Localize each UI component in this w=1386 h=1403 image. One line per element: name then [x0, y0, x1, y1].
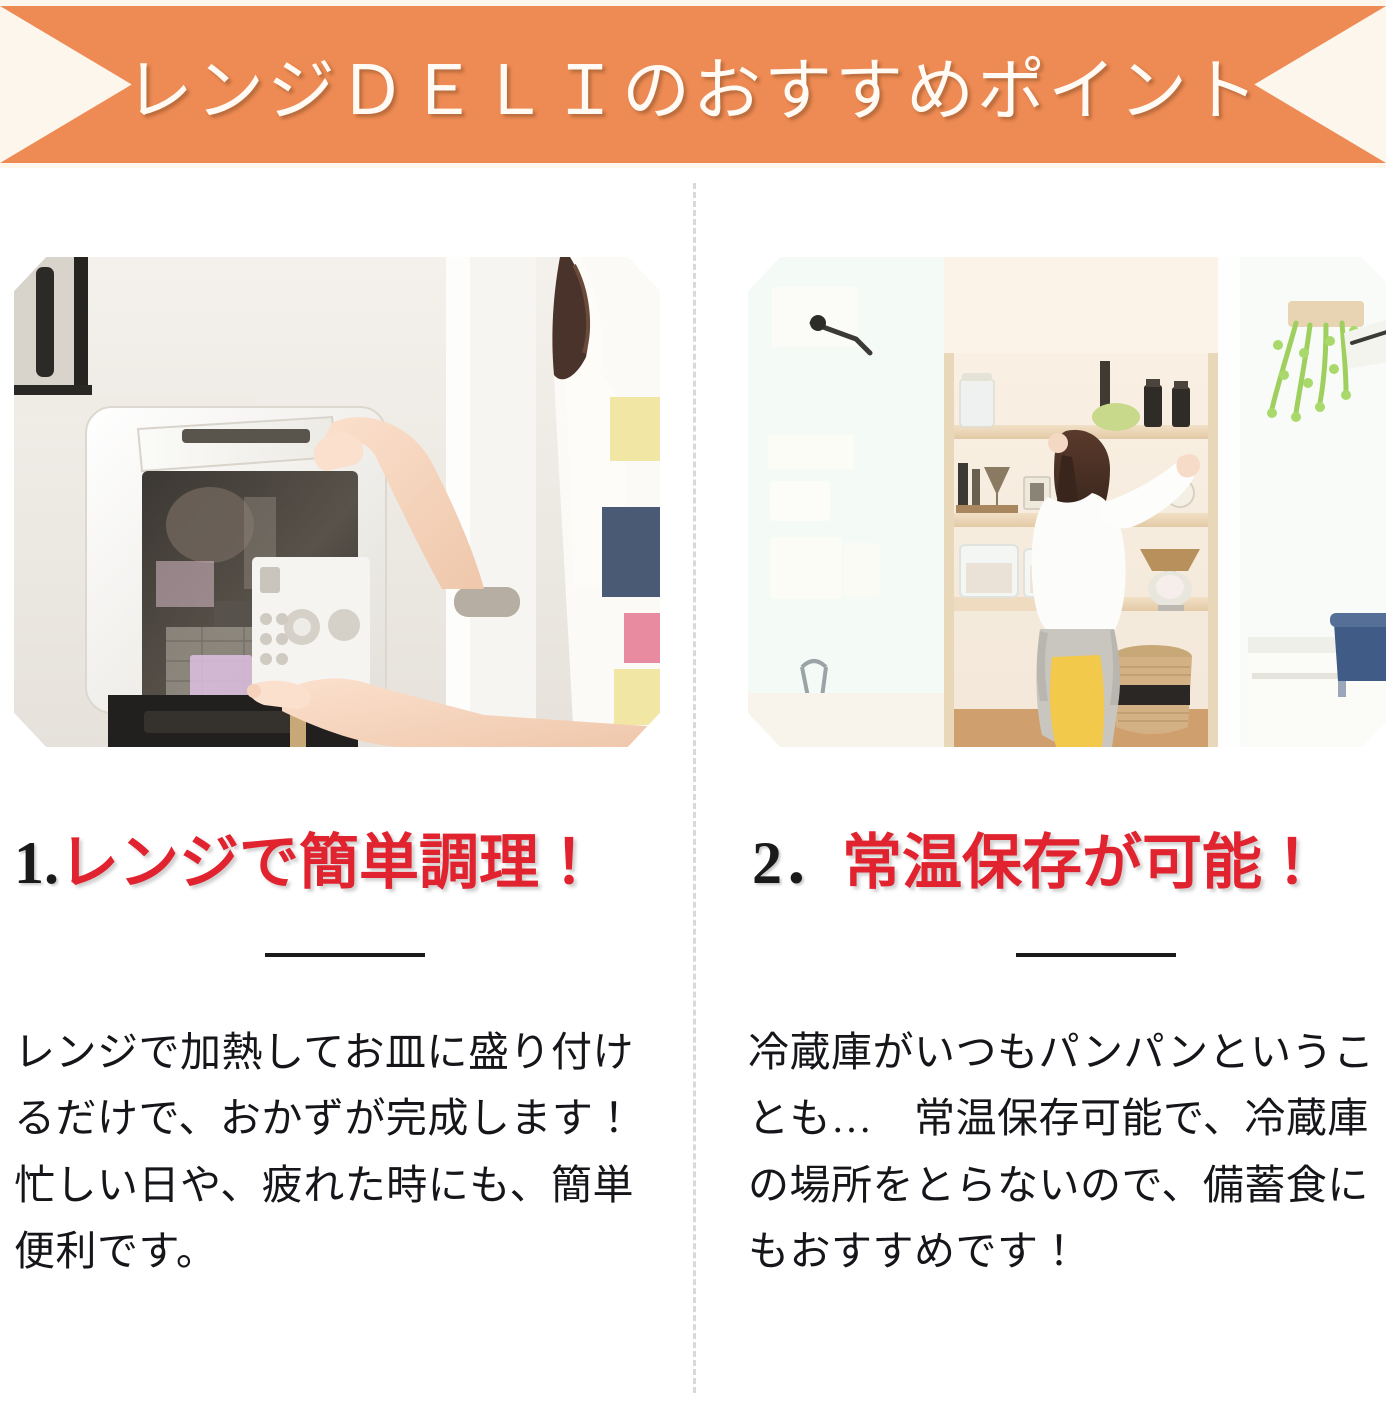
column-divider [693, 183, 696, 1393]
point-1-divider-rule [265, 953, 425, 957]
point-2-headline-text: 常温保存が可能！ [842, 830, 1322, 896]
point-2-photo [748, 257, 1386, 747]
microwave-photo-illustration [14, 257, 660, 747]
point-1-photo [14, 257, 660, 747]
page-banner: レンジＤＥＬＩのおすすめポイント [0, 0, 1386, 168]
banner-title: レンジＤＥＬＩのおすすめポイント [0, 6, 1386, 163]
point-1-number: 1. [14, 830, 59, 896]
point-1-headline: 1.レンジで簡単調理！ [14, 833, 660, 893]
point-2-headline: 2．常温保存が可能！ [752, 833, 1386, 893]
point-card-2: 2．常温保存が可能！ 冷蔵庫がいつもパンパンということも… 常温保存可能で、冷蔵… [726, 185, 1386, 1285]
point-2-body: 冷蔵庫がいつもパンパンということも… 常温保存可能で、冷蔵庫の場所をとらないので… [748, 1019, 1386, 1285]
point-2-divider-rule [1016, 953, 1176, 957]
pantry-photo-illustration [748, 257, 1386, 747]
point-2-number: 2． [752, 830, 842, 896]
point-card-1: 1.レンジで簡単調理！ レンジで加熱してお皿に盛り付けるだけで、おかずが完成しま… [0, 185, 660, 1285]
point-1-body: レンジで加熱してお皿に盛り付けるだけで、おかずが完成します！忙しい日や、疲れた時… [14, 1019, 646, 1285]
point-1-headline-text: レンジで簡単調理！ [59, 830, 599, 896]
